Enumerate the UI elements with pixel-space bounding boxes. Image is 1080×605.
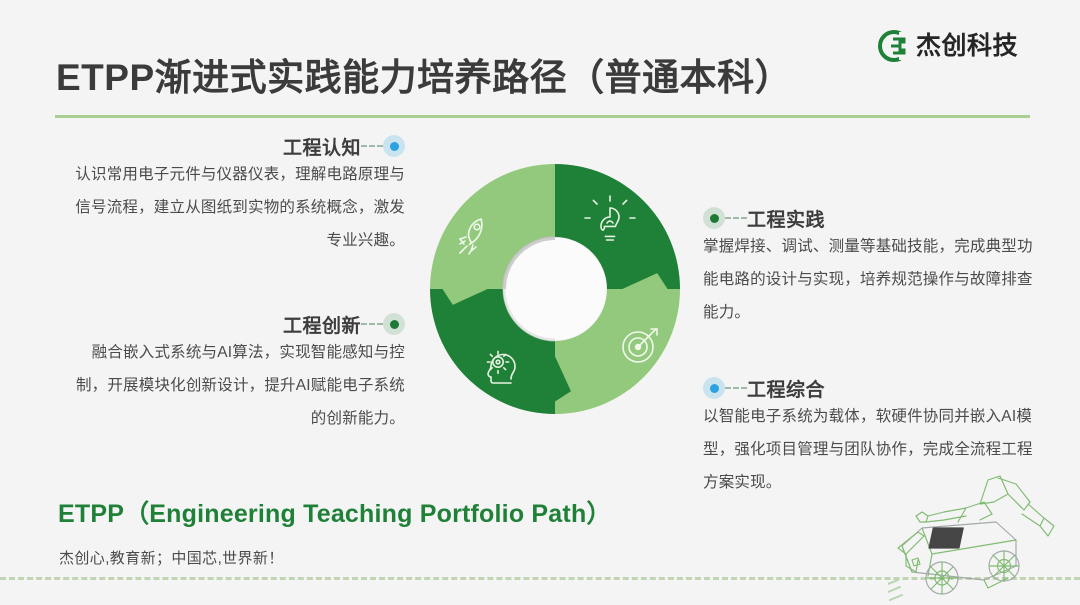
section-integration-label: 工程综合 [747,375,825,402]
dot-core [710,214,719,223]
section-cognition: 工程认知 认识常用电子元件与仪器仪表，理解电路原理与信号流程，建立从图纸到实物的… [75,134,405,257]
dot-core [390,142,399,151]
section-marker-dot-icon [703,207,725,229]
section-practice: 工程实践 掌握焊接、调试、测量等基础技能，完成典型功能电路的设计与实现，培养规范… [703,206,1043,329]
section-marker-dot-icon [703,377,725,399]
connector-line [361,145,383,147]
etpp-expansion: ETPP（Engineering Teaching Portfolio Path… [58,494,612,530]
company-slogan: 杰创心,教育新；中国芯,世界新！ [59,547,284,568]
company-circle-mark-icon [878,30,910,62]
title-divider [55,115,1030,118]
page-title: ETPP渐进式实践能力培养路径（普通本科） [56,47,792,101]
robot-vehicle-line-art-icon [888,468,1073,603]
section-innovation-header: 工程创新 [75,312,405,336]
section-marker-dot-icon [383,313,405,335]
section-integration-header: 工程综合 [703,376,1043,400]
section-cognition-label: 工程认知 [283,133,361,160]
connector-line [725,217,747,219]
section-innovation: 工程创新 融合嵌入式系统与AI算法，实现智能感知与控制，开展模块化创新设计，提升… [75,312,405,435]
brand-logo: 杰创科技 [878,30,1018,62]
connector-line [725,387,747,389]
section-practice-body: 掌握焊接、调试、测量等基础技能，完成典型功能电路的设计与实现，培养规范操作与故障… [703,230,1043,329]
brand-logo-text: 杰创科技 [916,34,1018,59]
section-innovation-body: 融合嵌入式系统与AI算法，实现智能感知与控制，开展模块化创新设计，提升AI赋能电… [75,336,405,435]
connector-line [361,323,383,325]
dot-core [710,384,719,393]
section-cognition-header: 工程认知 [75,134,405,158]
section-marker-dot-icon [383,135,405,157]
section-innovation-label: 工程创新 [283,311,361,338]
section-practice-label: 工程实践 [747,205,825,232]
cycle-rings [425,159,685,419]
section-practice-header: 工程实践 [703,206,1043,230]
slide-canvas: 杰创科技 ETPP渐进式实践能力培养路径（普通本科） 工程认知 认识常用电子元件… [0,0,1080,605]
cycle-diagram [424,158,686,420]
dot-core [390,320,399,329]
section-cognition-body: 认识常用电子元件与仪器仪表，理解电路原理与信号流程，建立从图纸到实物的系统概念，… [75,158,405,257]
